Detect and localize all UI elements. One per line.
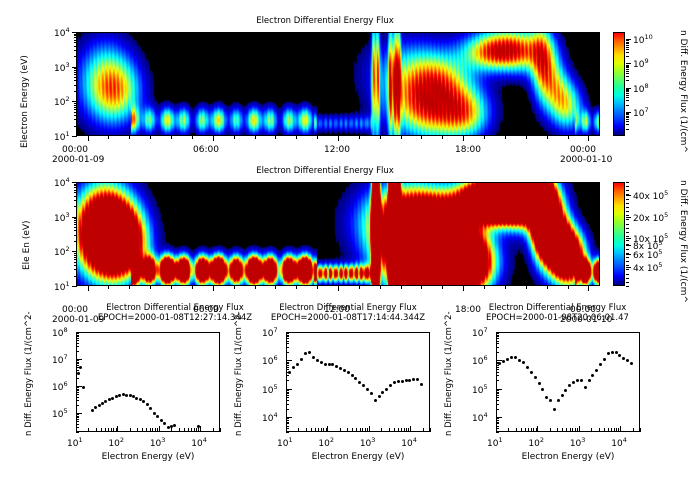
panel2-ytick-minor (74, 192, 77, 193)
panel2-ylabel: Ele En (eV) (22, 220, 32, 270)
spectrum-2-data-point (603, 358, 606, 361)
spectrum-1-xtick-minor (389, 428, 390, 432)
panel2-ytick-minor (74, 187, 77, 188)
spectrum-2-data-point (553, 408, 556, 411)
spectrum-2-ylabel: n Diff. Energy Flux (1/(cm^2- (444, 311, 454, 436)
panel2-xtick-minor (275, 286, 276, 289)
spectrum-1-ytick-minor (286, 338, 289, 339)
spectrum-1-ytick-label-5: 105 (262, 383, 278, 396)
panel1-xtick-minor (234, 136, 235, 139)
spectrum-1-ytick-minor (286, 422, 289, 423)
panel2-ytick-label-4: 104 (54, 176, 70, 189)
panel2-colorbar-gradient (614, 183, 624, 285)
spectrum-0-xtick-minor (108, 428, 109, 432)
spectrum-1-xtick-minor (408, 428, 409, 432)
spectrum-2-xtick-minor (533, 428, 534, 432)
spectrum-2-xtick-label-1: 101 (487, 436, 503, 449)
panel2-xtick-minor (442, 286, 443, 289)
panel1-xtick-minor (88, 136, 89, 139)
spectrum-1-xtick-minor (406, 428, 407, 432)
spectrum-0-data-point (153, 412, 156, 415)
panel2-xtick-minor (150, 286, 151, 289)
panel1-xtick-minor (401, 136, 402, 139)
spectrum-1-xtick-minor (321, 428, 322, 432)
panel2-ytick-minor (74, 230, 77, 231)
spectrum-1-data-point (328, 363, 331, 366)
panel2-ytick-minor (74, 218, 77, 219)
panel1-ytick-minor (74, 42, 77, 43)
spectrum-1-xtick-minor (326, 428, 327, 432)
panel2-colorbar-tick-minor (626, 257, 629, 258)
panel1-ytick-label-2: 102 (54, 95, 70, 108)
spectrum-1-xtick-minor (315, 428, 316, 432)
panel2-colorbar-tick-minor (626, 194, 629, 195)
spectrum-2-xtick-minor (516, 428, 517, 432)
panel2-ytick-minor (74, 235, 77, 236)
spectrum-0-xtick-minor (137, 428, 138, 432)
panel1-xtick-minor (505, 136, 506, 139)
spectrum-2-data-point (514, 356, 517, 359)
spectrum-0-xtick-minor (157, 428, 158, 432)
panel1-colorbar-tick-label-1: 109 (633, 57, 649, 70)
spectrum-1-xtick-minor (398, 428, 399, 432)
spectrum-1-xtick-minor (394, 428, 395, 432)
spectrum-2-ytick-minor (496, 341, 499, 342)
panel1-colorbar-tick-minor (626, 100, 629, 101)
spectrum-1-ytick-minor (286, 369, 289, 370)
spectrum-1-data-point (312, 356, 315, 359)
spectrum-2-data-point (576, 379, 579, 382)
panel2-colorbar-tick-minor (626, 244, 629, 245)
spectrum-0-xtick-minor (113, 428, 114, 432)
panel2-colorbar-tick-minor (626, 249, 629, 250)
panel1-xtick-label-3: 18:00 (455, 145, 481, 155)
panel2-ytick-minor (74, 257, 77, 258)
panel1-xtick-minor (338, 136, 339, 139)
panel1-ytick-minor (74, 34, 77, 35)
panel2-ytick-minor (74, 262, 77, 263)
spectrum-2-ytick-minor (496, 395, 499, 396)
spectrum-1-ytick-minor (286, 367, 289, 368)
panel2-xtick-minor (338, 286, 339, 289)
spectrum-0-ytick-minor (76, 335, 79, 336)
spectrum-1-ytick-minor (286, 409, 289, 410)
panel1-ytick-minor (74, 77, 77, 78)
spectrum-2-ytick-minor (496, 338, 499, 339)
panel1-colorbar-tick-minor (626, 117, 629, 118)
panel2-xtick-minor (234, 286, 235, 289)
spectrum-2-data-point (557, 399, 560, 402)
panel1-colorbar-tick-minor (626, 45, 629, 46)
spectrum-0-ytick-minor (76, 390, 79, 391)
spectrum-2-xtick-minor (577, 428, 578, 432)
spectrum-1-xtick-minor (352, 428, 353, 432)
panel1-xtick-minor (359, 136, 360, 139)
spectrum-0-ytick-minor (76, 351, 79, 352)
spectrum-1-data-point (324, 363, 327, 366)
spectrum-1-ytick-minor (286, 343, 289, 344)
spectrum-2-xtick-minor (562, 428, 563, 432)
spectrum-0-xlabel: Electron Energy (eV) (56, 452, 240, 462)
spectrum-1-xtick-minor (367, 428, 368, 432)
spectrum-1-data-point (416, 378, 419, 381)
panel2-colorbar-tick-label-0: 40x 105 (633, 189, 668, 202)
spectrum-2-plot-area (496, 332, 640, 432)
spectrum-2-data-point (615, 351, 618, 354)
spectrum-0-xtick-minor (188, 428, 189, 432)
spectrum-0-ytick-minor (76, 400, 79, 401)
panel2-colorbar-tick-minor (626, 236, 629, 237)
spectrum-1-xtick-minor (323, 428, 324, 432)
panel2-xtick-minor (129, 286, 130, 289)
panel1-ytick-minor (74, 56, 77, 57)
spectrum-2-ytick-minor (496, 423, 499, 424)
spectrum-2-xtick-minor (536, 428, 537, 432)
panel1-colorbar-tick-minor (626, 42, 629, 43)
spectrum-1-xlabel: Electron Energy (eV) (266, 452, 450, 462)
spectrum-0-ytick-minor (76, 424, 79, 425)
panel1-xtick-minor (484, 136, 485, 139)
panel2-colorbar-tick-minor (626, 203, 629, 204)
panel2-colorbar-tick-2 (626, 238, 631, 239)
spectrum-0-xtick-2 (117, 426, 118, 432)
panel1-ytick-minor (74, 112, 77, 113)
spectrum-2-xtick-minor (557, 428, 558, 432)
spectrum-1-ytick-minor (286, 347, 289, 348)
panel2-colorbar-tick-minor (626, 253, 629, 254)
panel2-xtick-minor (317, 286, 318, 289)
spectrum-0-ytick-minor (76, 405, 79, 406)
panel2-colorbar-tick-5 (626, 267, 631, 268)
spectrum-1-xtick-minor (381, 428, 382, 432)
spectrum-2-xtick-2 (537, 426, 538, 432)
spectrum-2-ytick-minor (496, 375, 499, 376)
panel1-ytick-major-1 (72, 136, 77, 137)
panel1-colorbar-tick-minor (626, 105, 629, 106)
spectrum-0-ytick-label-6: 106 (52, 380, 68, 393)
panel2-ytick-minor (74, 276, 77, 277)
panel1-xtick-minor (463, 136, 464, 139)
spectrum-0-xtick-minor (184, 428, 185, 432)
spectrum-2-ytick-minor (496, 336, 499, 337)
spectrum-0-data-point (160, 419, 163, 422)
spectrum-1-data-point (339, 367, 342, 370)
spectrum-0-xtick-minor (105, 428, 106, 432)
spectrum-0-xtick-minor (88, 428, 89, 432)
spectrum-1-data-point (292, 366, 295, 369)
spectrum-2-data-point (626, 359, 629, 362)
spectrum-2-xtick-minor (570, 428, 571, 432)
panel1-colorbar-tick-label-2: 108 (633, 82, 649, 95)
spectrum-2-xtick-minor (575, 428, 576, 432)
spectrum-0-xtick-label-4: 104 (191, 436, 207, 449)
spectrum-1-xtick-label-4: 104 (401, 436, 417, 449)
panel2-ytick-minor (74, 196, 77, 197)
spectrum-2-xtick-label-4: 104 (611, 436, 627, 449)
panel1-ytick-minor (74, 70, 77, 71)
spectrum-1-ytick-minor (286, 375, 289, 376)
spectrum-1-ytick-minor (286, 432, 289, 433)
panel2-colorbar-tick-minor (626, 228, 629, 229)
spectrum-1-xtick-label-2: 102 (318, 436, 334, 449)
panel1-colorbar-tick-minor (626, 121, 629, 122)
spectrum-0-xtick-minor (111, 428, 112, 432)
spectrum-0-data-point (98, 404, 101, 407)
panel2-ytick-minor (74, 253, 77, 254)
spectrum-0-xtick-1 (76, 426, 77, 432)
spectrum-2-xtick-minor (599, 428, 600, 432)
panel1-ytick-minor (74, 74, 77, 75)
panel2-colorbar-tick-minor (626, 211, 629, 212)
panel2-colorbar-tick-minor (626, 240, 629, 241)
spectrum-1-ytick-minor (286, 363, 289, 364)
panel2-colorbar-tick-minor (626, 182, 629, 183)
spectrum-2-ytick-minor (496, 369, 499, 370)
panel1-colorbar-tick-minor (626, 97, 629, 98)
spectrum-2-xtick-minor (531, 428, 532, 432)
panel2-ytick-label-2: 102 (54, 245, 70, 258)
spectrum-2-ytick-minor (496, 393, 499, 394)
panel1-colorbar-tick-minor (626, 119, 629, 120)
spectrum-1-xtick-label-3: 103 (360, 436, 376, 449)
panel1-colorbar-tick-minor (626, 114, 629, 115)
panel2-ytick-minor (74, 220, 77, 221)
spectrum-0-ytick-label-5: 105 (52, 407, 68, 420)
panel2-colorbar-tick-1 (626, 217, 631, 218)
figure-root: Electron Differential Energy Flux Electr… (0, 0, 697, 492)
spectrum-0-xtick-minor (152, 428, 153, 432)
panel2-ytick-minor (74, 222, 77, 223)
spectrum-0-data-point (118, 394, 121, 397)
panel1-xdate-right: 2000-01-10 (560, 155, 612, 165)
spectrum-0-xtick-minor (220, 428, 221, 432)
spectrum-0-xtick-4 (200, 426, 201, 432)
spectrum-2-data-point (526, 366, 529, 369)
panel1-ytick-minor (74, 85, 77, 86)
spectrum-2-ytick-minor (496, 418, 499, 419)
panel1-ytick-minor (74, 72, 77, 73)
spectrum-0-ytick-minor (76, 419, 79, 420)
spectrum-2-data-point (518, 359, 521, 362)
panel1-xtick-label-1: 06:00 (193, 145, 219, 155)
panel2-colorbar-tick-minor (626, 207, 629, 208)
panel1-xtick-label-0: 00:00 (62, 145, 88, 155)
spectrum-0-xtick-3 (159, 426, 160, 432)
spectrum-2-data-point (530, 371, 533, 374)
panel1-colorbar-tick-minor (626, 80, 629, 81)
spectrum-2-data-point (506, 358, 509, 361)
spectrum-0-ytick-minor (76, 333, 79, 334)
spectrum-0-xtick-minor (213, 428, 214, 432)
spectrum-2-title: Electron Differential Energy Flux (450, 303, 665, 313)
spectrum-1-xtick-minor (360, 428, 361, 432)
spectrum-2-ytick-minor (496, 400, 499, 401)
spectrum-1-ytick-minor (286, 397, 289, 398)
panel1-ytick-minor (74, 40, 77, 41)
panel2-ytick-minor (74, 185, 77, 186)
spectrum-0-ytick-minor (76, 343, 79, 344)
spectrum-2-xtick-minor (618, 428, 619, 432)
spectrum-0-xtick-label-2: 102 (108, 436, 124, 449)
panel2-ytick-label-3: 103 (54, 211, 70, 224)
panel1-ytick-minor (74, 115, 77, 116)
spectrum-1-ytick-minor (286, 365, 289, 366)
panel2-ytick-minor (74, 184, 77, 185)
spectrum-2-ytick-label-7: 107 (472, 326, 488, 339)
spectrum-1-data-point (378, 395, 381, 398)
spectrum-2-ytick-minor (496, 352, 499, 353)
spectrum-2-xtick-4 (620, 426, 621, 432)
panel2-ytick-major-1 (72, 286, 77, 287)
spectrum-2-data-point (502, 360, 505, 363)
panel1-colorbar-tick-minor (626, 40, 629, 41)
panel1-xtick-minor (442, 136, 443, 139)
spectrum-2-ytick-minor (496, 343, 499, 344)
spectrum-0-xtick-minor (96, 428, 97, 432)
panel2-ytick-minor (74, 265, 77, 266)
panel1-xtick-minor (568, 136, 569, 139)
spectrum-1-xtick-1 (286, 426, 287, 432)
panel1-ytick-label-4: 104 (54, 26, 70, 39)
panel1-colorbar (613, 32, 625, 136)
spectrum-2-data-point (572, 381, 575, 384)
panel1-xtick-minor (255, 136, 256, 139)
spectrum-1-ytick-minor (286, 341, 289, 342)
panel2-colorbar-tick-minor (626, 278, 629, 279)
panel1-colorbar-tick-minor (626, 56, 629, 57)
panel2-colorbar-tick-4 (626, 254, 631, 255)
panel2-ytick-minor (74, 269, 77, 270)
spectrum-0-xtick-minor (194, 428, 195, 432)
panel2-xtick-minor (359, 286, 360, 289)
spectrum-0-ytick-minor (76, 432, 79, 433)
panel1-xtick-minor (171, 136, 172, 139)
panel2-colorbar-tick-minor (626, 224, 629, 225)
spectrum-1-ytick-minor (286, 395, 289, 396)
panel2-xtick-minor (547, 286, 548, 289)
panel1-ytick-label-3: 103 (54, 61, 70, 74)
spectrum-0-ytick-minor (76, 336, 79, 337)
spectrum-1-ytick-minor (286, 400, 289, 401)
panel1-ytick-minor (74, 91, 77, 92)
spectrum-2-xtick-minor (608, 428, 609, 432)
spectrum-1-data-point (308, 351, 311, 354)
panel2-xtick-minor (296, 286, 297, 289)
panel1-xtick-minor (547, 136, 548, 139)
panel2-colorbar-tick-minor (626, 219, 629, 220)
panel2-colorbar-tick-minor (626, 286, 629, 287)
spectrum-1-ytick-label-7: 107 (262, 326, 278, 339)
spectrum-1-data-point (420, 383, 423, 386)
spectrum-1-xtick-minor (365, 428, 366, 432)
spectrum-2-data-point (622, 357, 625, 360)
panel1-xtick-minor (421, 136, 422, 139)
spectrum-0-ytick-minor (76, 370, 79, 371)
panel1-colorbar-tick-minor (626, 91, 629, 92)
spectrum-2-xtick-minor (604, 428, 605, 432)
spectrum-1-ytick-minor (286, 352, 289, 353)
panel1-title: Electron Differential Energy Flux (195, 16, 455, 26)
spectrum-1-epoch: EPOCH=2000-01-08T17:14:44.344Z (248, 313, 448, 323)
panel1-ytick-minor (74, 103, 77, 104)
panel2-xtick-minor (255, 286, 256, 289)
spectrum-1-xtick-minor (362, 428, 363, 432)
spectrum-2-xtick-3 (579, 426, 580, 432)
panel2-xtick-minor (505, 286, 506, 289)
spectrum-0-xtick-minor (142, 428, 143, 432)
spectrum-1-ytick-minor (286, 380, 289, 381)
spectrum-1-ytick-minor (286, 418, 289, 419)
spectrum-2-data-point (498, 362, 501, 365)
panel2-spectrogram (76, 182, 600, 286)
spectrum-2-ytick-minor (496, 422, 499, 423)
spectrum-1-xtick-4 (410, 426, 411, 432)
spectrum-2-xtick-label-3: 103 (570, 436, 586, 449)
panel1-ytick-minor (74, 80, 77, 81)
panel2-colorbar-tick-3 (626, 245, 631, 246)
spectrum-0-xtick-label-1: 101 (67, 436, 83, 449)
panel1-ytick-minor (74, 126, 77, 127)
panel1-ytick-minor (74, 37, 77, 38)
panel1-colorbar-tick-minor (626, 43, 629, 44)
spectrum-1-data-point (288, 371, 291, 374)
spectrum-1-data-point (401, 380, 404, 383)
panel2-colorbar-tick-minor (626, 265, 629, 266)
spectrum-2-data-point (584, 386, 587, 389)
spectrum-1-xtick-minor (401, 428, 402, 432)
spectrum-1-data-point (347, 371, 350, 374)
spectrum-0-plot-area (76, 332, 220, 432)
spectrum-2-ytick-label-6: 106 (472, 354, 488, 367)
spectrum-2-ytick-minor (496, 409, 499, 410)
panel1-xtick-minor (317, 136, 318, 139)
panel1-colorbar-tick-minor (626, 65, 629, 66)
panel2-colorbar-tick-label-4: 6x 105 (633, 248, 663, 261)
panel1-ytick-minor (74, 68, 77, 69)
panel1-colorbar-gradient (614, 33, 624, 135)
panel2-xtick-minor (484, 286, 485, 289)
spectrum-1-xtick-3 (369, 426, 370, 432)
panel1-xtick-minor (150, 136, 151, 139)
spectrum-1-data-point (296, 363, 299, 366)
panel1-colorbar-tick-minor (626, 71, 629, 72)
spectrum-0-xtick-minor (191, 428, 192, 432)
spectrum-0-xtick-minor (130, 428, 131, 432)
spectrum-1-data-point (351, 374, 354, 377)
spectrum-2-ytick-minor (496, 367, 499, 368)
spectrum-2-ytick-label-4: 104 (472, 411, 488, 424)
panel1-xtick-minor (380, 136, 381, 139)
spectrum-0-xtick-minor (171, 428, 172, 432)
spectrum-1-xtick-minor (318, 428, 319, 432)
spectrum-0-ytick-minor (76, 392, 79, 393)
panel2-ytick-minor (74, 241, 77, 242)
spectrum-1-data-point (370, 392, 373, 395)
panel2-xtick-minor (588, 286, 589, 289)
spectrum-1-xtick-minor (347, 428, 348, 432)
spectrum-2-xtick-minor (614, 428, 615, 432)
spectrum-1-ytick-minor (286, 423, 289, 424)
spectrum-0-xtick-label-3: 103 (150, 436, 166, 449)
spectrum-2-data-point (611, 351, 614, 354)
spectrum-2-xtick-minor (521, 428, 522, 432)
panel2-xtick-minor (568, 286, 569, 289)
spectrum-1-ytick-label-6: 106 (262, 354, 278, 367)
panel1-colorbar-tick-minor (626, 67, 629, 68)
panel2-xtick-minor (213, 286, 214, 289)
spectrum-1-data-point (374, 399, 377, 402)
panel2-xtick-minor (380, 286, 381, 289)
